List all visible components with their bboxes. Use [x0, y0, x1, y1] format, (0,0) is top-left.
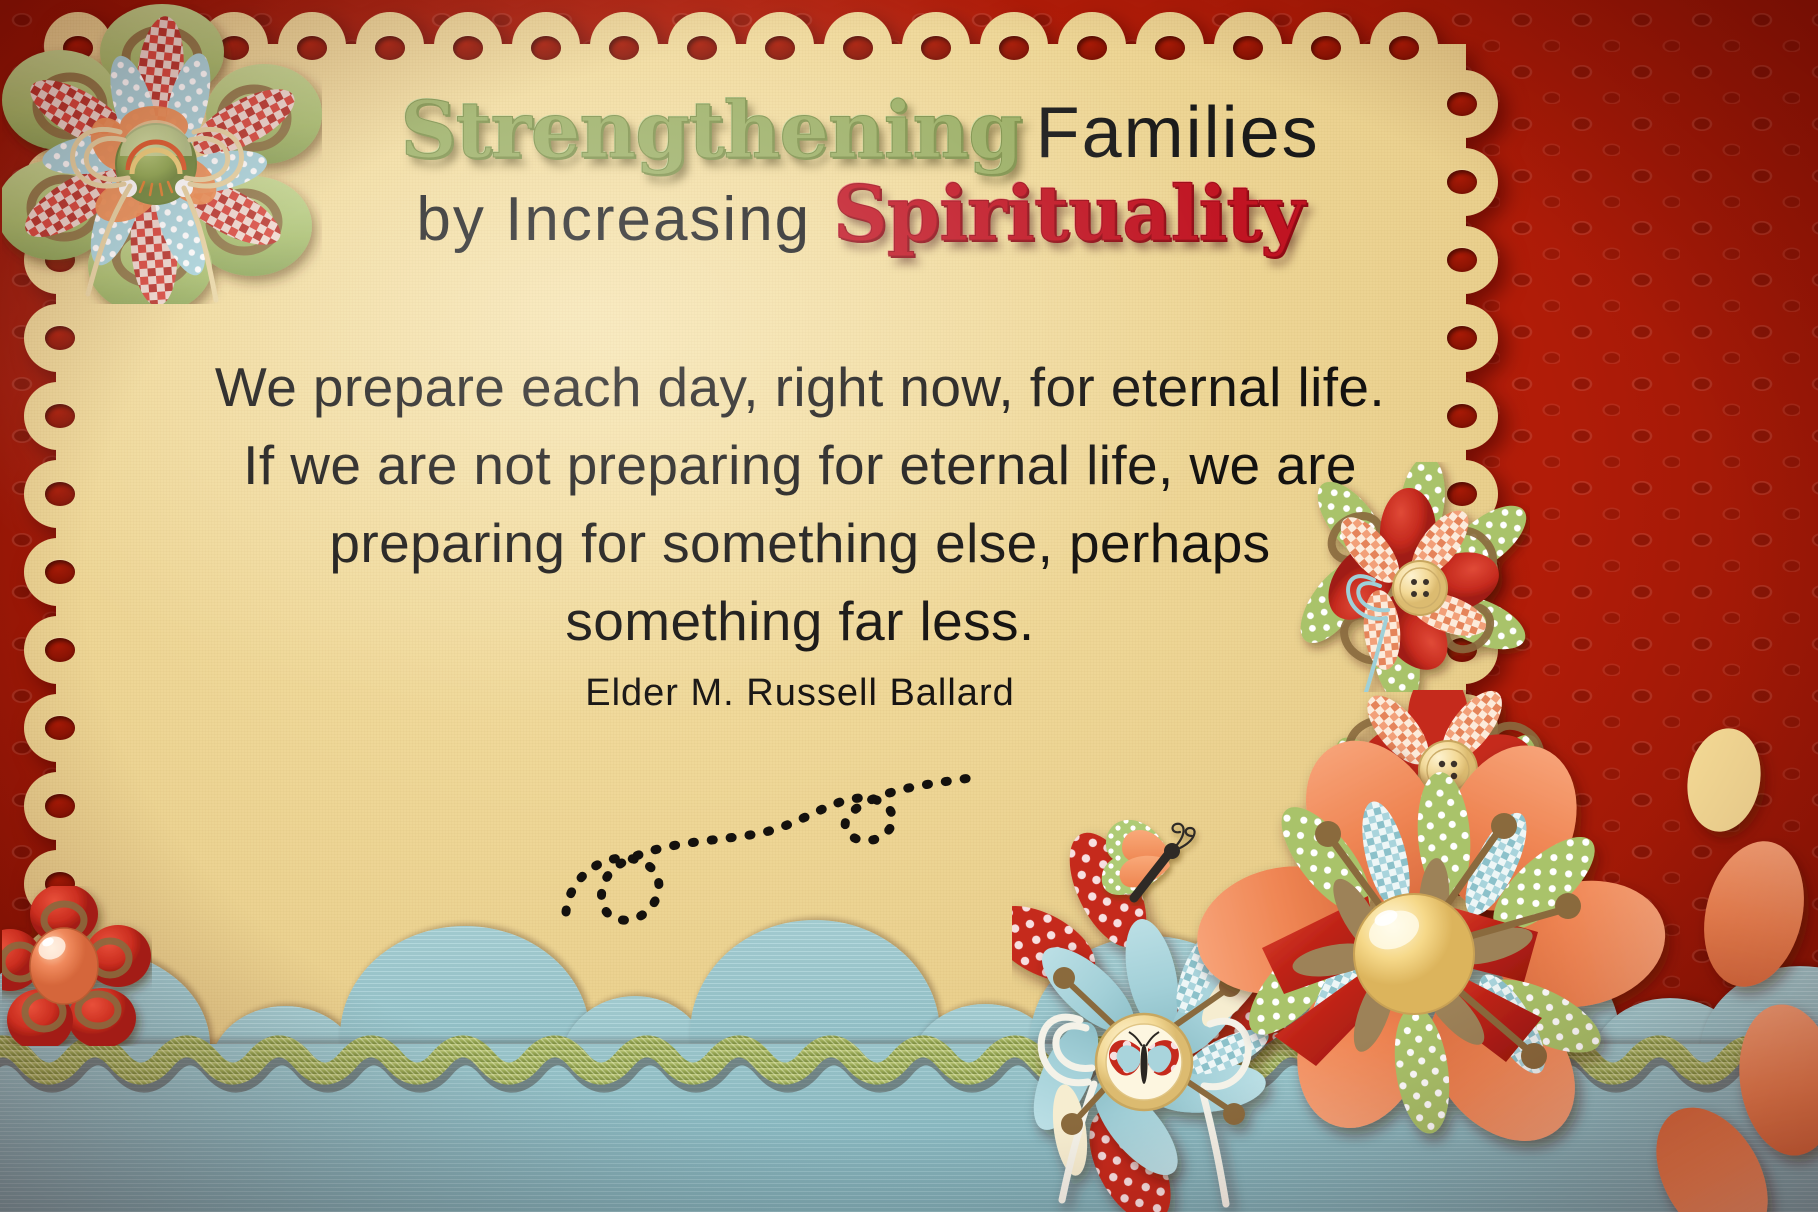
title-word-strengthening: Strengthening: [400, 85, 1021, 176]
butterfly-icon: [1092, 802, 1242, 924]
quote-text: We prepare each day, right now, for eter…: [210, 348, 1390, 660]
greeting-card: StrengtheningFamilies by IncreasingSpiri…: [0, 0, 1818, 1212]
quote-line: We prepare each day, right now, for eter…: [210, 348, 1390, 426]
quote-line: something far less.: [210, 582, 1390, 660]
flower-bottom-left-icon: [2, 886, 152, 1046]
title-word-spirituality: Spirituality: [833, 169, 1303, 258]
flower-cluster-bottom-right-icon: [1012, 690, 1818, 1212]
page-title: StrengtheningFamilies by IncreasingSpiri…: [300, 92, 1420, 252]
title-word-families: Families: [1036, 93, 1320, 173]
title-word-by-increasing: by Increasing: [416, 185, 811, 254]
flower-middle-right-icon: [1290, 462, 1530, 692]
flower-top-left-icon: [2, 4, 322, 304]
quote-line: If we are not preparing for eternal life…: [210, 426, 1390, 504]
quote-line: preparing for something else, perhaps: [210, 504, 1390, 582]
dotted-flight-trail-icon: [560, 760, 1030, 940]
